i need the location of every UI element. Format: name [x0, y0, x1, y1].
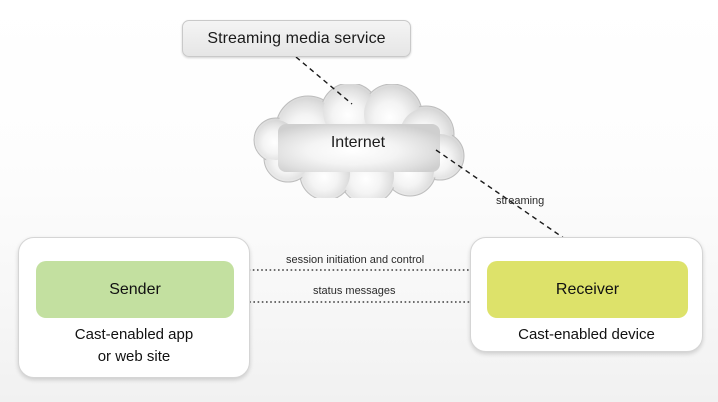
- sender-role-box[interactable]: Sender: [36, 261, 234, 318]
- sender-caption-line2: or web site: [19, 346, 249, 368]
- internet-cloud: Internet: [250, 84, 466, 198]
- sender-node[interactable]: Sender Cast-enabled app or web site: [18, 237, 250, 378]
- diagram-canvas: Internet Streaming media service stream: [0, 0, 718, 402]
- streaming-media-service-node[interactable]: Streaming media service: [182, 20, 411, 57]
- service-label: Streaming media service: [207, 30, 385, 48]
- edge-label-status-messages: status messages: [313, 285, 396, 298]
- sender-caption-line1: Cast-enabled app: [19, 324, 249, 346]
- cloud-label: Internet: [250, 134, 466, 152]
- streaming-content-line1: streaming: [496, 194, 544, 208]
- sender-caption: Cast-enabled app or web site: [19, 324, 249, 368]
- receiver-node[interactable]: Receiver Cast-enabled device: [470, 237, 703, 352]
- edge-label-session-initiation: session initiation and control: [286, 254, 424, 267]
- receiver-role-box[interactable]: Receiver: [487, 261, 688, 318]
- receiver-caption-line1: Cast-enabled device: [471, 324, 702, 346]
- receiver-caption: Cast-enabled device: [471, 324, 702, 346]
- sender-label: Sender: [109, 281, 161, 299]
- receiver-label: Receiver: [556, 281, 619, 299]
